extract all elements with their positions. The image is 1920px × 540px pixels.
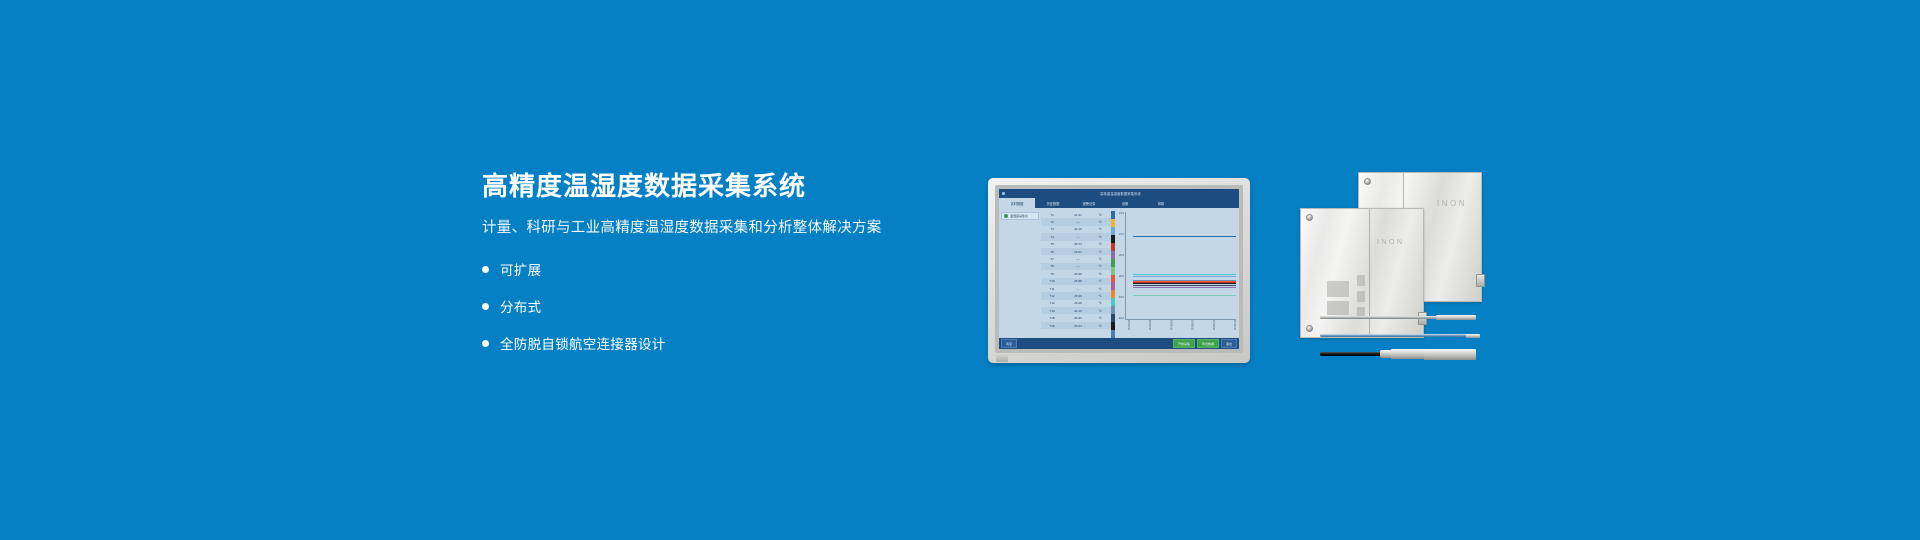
value-cell: 26.28 [1063, 301, 1093, 305]
channel-cell: T13 [1041, 301, 1063, 305]
unit-cell: ℃ [1093, 264, 1107, 268]
value-cell: 26.94 [1063, 324, 1093, 328]
table-row[interactable]: T8---℃ [1041, 263, 1111, 270]
device-tree-label: 温湿度采集仪 [1010, 214, 1028, 218]
unit-cell: ℃ [1093, 242, 1107, 246]
chart-series-line [1133, 281, 1236, 282]
channel-cell: T16 [1041, 324, 1063, 328]
value-cell: 26.19 [1063, 227, 1093, 231]
screw-icon [1364, 178, 1371, 185]
list-item: 可扩展 [482, 259, 952, 279]
y-tick-label: 21.0 [1119, 233, 1124, 236]
channel-cell: T14 [1041, 309, 1063, 313]
screw-icon [1306, 325, 1313, 332]
unit-cell: ℃ [1093, 301, 1107, 305]
probe-shaft [1320, 316, 1440, 319]
table-row[interactable]: T626.61℃ [1041, 248, 1111, 255]
tab-strip: 实时数据 历史数据 报警记录 设置 帮助 [999, 198, 1239, 208]
table-row[interactable]: T926.98℃ [1041, 270, 1111, 277]
table-row[interactable]: T7---℃ [1041, 255, 1111, 262]
chart-x-axis: 10:02:1010:04:1010:06:1010:08:1010:10:10… [1127, 320, 1236, 335]
app-bottom-toolbar: 清空 开始采集 导出数据 退出 [999, 338, 1239, 349]
value-cell: 26.15 [1063, 309, 1093, 313]
value-cell: 26.73 [1063, 242, 1093, 246]
feature-label: 可扩展 [500, 259, 541, 279]
chart-plot-area [1125, 212, 1236, 320]
tab-history[interactable]: 历史数据 [1035, 198, 1071, 208]
feature-label: 分布式 [500, 296, 541, 316]
y-tick-label: 21.5 [1119, 212, 1124, 215]
exit-button[interactable]: 退出 [1221, 339, 1237, 348]
unit-cell: ℃ [1093, 316, 1107, 320]
value-cell: 26.61 [1063, 250, 1093, 254]
table-row[interactable]: T1226.90℃ [1041, 292, 1111, 299]
table-row[interactable]: T1426.15℃ [1041, 307, 1111, 314]
channel-cell: T4 [1041, 235, 1063, 239]
value-cell: --- [1063, 264, 1093, 268]
channel-cell: T10 [1041, 279, 1063, 283]
chart-series-line [1133, 274, 1236, 275]
unit-cell: ℃ [1093, 250, 1107, 254]
unit-cell: ℃ [1093, 272, 1107, 276]
table-row[interactable]: T1626.94℃ [1041, 322, 1111, 329]
x-tick-label: 10:02:10 [1127, 320, 1130, 335]
chart-series-line [1133, 295, 1236, 296]
chart-y-axis: 21.521.020.520.019.519.0 [1115, 212, 1125, 320]
x-tick-label: 10:06:10 [1169, 320, 1172, 335]
table-row[interactable]: T11---℃ [1041, 285, 1111, 292]
channel-cell: T7 [1041, 257, 1063, 261]
feature-list: 可扩展 分布式 全防脱自锁航空连接器设计 [482, 259, 952, 353]
x-tick-label: 10:04:10 [1148, 320, 1151, 335]
connector-shell [1424, 349, 1476, 360]
sensor-probes [1320, 312, 1480, 368]
device-tree-root[interactable]: 温湿度采集仪 [1001, 212, 1039, 220]
value-cell: --- [1063, 287, 1093, 291]
module-brand-label: INON [1437, 199, 1467, 208]
device-online-icon [1004, 214, 1008, 218]
y-tick-label: 19.0 [1119, 317, 1124, 320]
table-row[interactable]: T1326.28℃ [1041, 300, 1111, 307]
chart-series-line [1133, 287, 1236, 288]
value-cell: --- [1063, 235, 1093, 239]
y-tick-label: 20.5 [1119, 254, 1124, 257]
channel-cell: T2 [1041, 220, 1063, 224]
channel-cell: T8 [1041, 264, 1063, 268]
value-cell: 21.31 [1063, 213, 1093, 217]
value-cell: --- [1063, 257, 1093, 261]
tab-realtime[interactable]: 实时数据 [999, 198, 1035, 208]
probe-shaft [1320, 334, 1468, 337]
monitor-screen: 高精度温湿度数据采集系统 实时数据 历史数据 报警记录 设置 帮助 温湿度采集仪 [999, 189, 1239, 349]
list-item: 全防脱自锁航空连接器设计 [482, 333, 952, 353]
monitor-inner-bezel: 高精度温湿度数据采集系统 实时数据 历史数据 报警记录 设置 帮助 温湿度采集仪 [995, 185, 1243, 353]
device-tree-pane: 温湿度采集仪 [999, 208, 1041, 338]
page-title: 高精度温湿度数据采集系统 [482, 172, 952, 201]
monitor-stand-foot [996, 355, 1008, 362]
unit-cell: ℃ [1093, 294, 1107, 298]
unit-cell: ℃ [1093, 287, 1107, 291]
chart-series-line [1133, 236, 1236, 237]
list-item: 分布式 [482, 296, 952, 316]
table-row[interactable]: T2---℃ [1041, 218, 1111, 225]
bullet-dot-icon [482, 340, 489, 347]
bullet-dot-icon [482, 266, 489, 273]
chart-series-line [1133, 276, 1236, 277]
clear-button[interactable]: 清空 [1001, 339, 1017, 348]
chart-series-line [1133, 283, 1236, 284]
table-row[interactable]: T121.31℃ [1041, 211, 1111, 218]
channel-cell: T11 [1041, 287, 1063, 291]
bullet-dot-icon [482, 303, 489, 310]
banner-copy: 高精度温湿度数据采集系统 计量、科研与工业高精度温湿度数据采集和分析整体解决方案… [482, 172, 952, 370]
tab-settings[interactable]: 设置 [1107, 198, 1143, 208]
panel-monitor: 高精度温湿度数据采集系统 实时数据 历史数据 报警记录 设置 帮助 温湿度采集仪 [988, 178, 1250, 363]
channel-cell: T6 [1041, 250, 1063, 254]
unit-cell: ℃ [1093, 235, 1107, 239]
product-banner: 高精度温湿度数据采集系统 计量、科研与工业高精度温湿度数据采集和分析整体解决方案… [0, 0, 1920, 540]
module-brand-label: INON [1377, 239, 1405, 246]
x-tick-label: 10:10:10 [1212, 320, 1215, 335]
channel-cell: T1 [1041, 213, 1063, 217]
x-tick-label: 10:08:10 [1191, 320, 1194, 335]
x-tick-label: 10:12:10 [1233, 320, 1236, 335]
chart-series-line [1133, 280, 1236, 281]
probe-cable [1320, 352, 1382, 356]
trend-chart[interactable]: 21.521.020.520.019.519.0 10:02:1010:04:1… [1115, 208, 1239, 338]
probe-tip [1466, 334, 1480, 338]
app-workarea: 温湿度采集仪 T121.31℃T2---℃T326.19℃T4---℃T526.… [999, 208, 1239, 338]
label-plate [1357, 275, 1365, 286]
channel-cell: T5 [1041, 242, 1063, 246]
channel-table[interactable]: T121.31℃T2---℃T326.19℃T4---℃T526.73℃T626… [1041, 208, 1111, 338]
channel-cell: T12 [1041, 294, 1063, 298]
unit-cell: ℃ [1093, 227, 1107, 231]
unit-cell: ℃ [1093, 220, 1107, 224]
tab-alarms[interactable]: 报警记录 [1071, 198, 1107, 208]
app-titlebar: 高精度温湿度数据采集系统 [999, 189, 1239, 198]
value-cell: 26.90 [1063, 294, 1093, 298]
table-row[interactable]: T1026.88℃ [1041, 278, 1111, 285]
value-cell: 26.90 [1063, 316, 1093, 320]
start-capture-button[interactable]: 开始采集 [1173, 339, 1195, 348]
page-subtitle: 计量、科研与工业高精度温湿度数据采集和分析整体解决方案 [482, 219, 952, 238]
chart-series-line [1133, 285, 1236, 286]
table-row[interactable]: T326.19℃ [1041, 226, 1111, 233]
label-plate [1357, 291, 1365, 302]
tab-help[interactable]: 帮助 [1143, 198, 1179, 208]
unit-cell: ℃ [1093, 309, 1107, 313]
app-title: 高精度温湿度数据采集系统 [1005, 191, 1236, 196]
table-row[interactable]: T4---℃ [1041, 233, 1111, 240]
vent-grille [1327, 281, 1349, 297]
value-cell: 26.98 [1063, 272, 1093, 276]
channel-cell: T3 [1041, 227, 1063, 231]
unit-cell: ℃ [1093, 213, 1107, 217]
channel-cell: T9 [1041, 272, 1063, 276]
value-cell: --- [1063, 220, 1093, 224]
feature-label: 全防脱自锁航空连接器设计 [500, 333, 666, 353]
y-tick-label: 19.5 [1119, 296, 1124, 299]
y-tick-label: 20.0 [1119, 275, 1124, 278]
connector-port [1476, 274, 1485, 287]
screw-icon [1306, 214, 1313, 221]
value-cell: 26.88 [1063, 279, 1093, 283]
aviation-connector [1391, 349, 1425, 359]
channel-cell: T15 [1041, 316, 1063, 320]
unit-cell: ℃ [1093, 257, 1107, 261]
probe-tip [1436, 315, 1476, 320]
unit-cell: ℃ [1093, 279, 1107, 283]
export-data-button[interactable]: 导出数据 [1197, 339, 1219, 348]
table-row[interactable]: T1526.90℃ [1041, 314, 1111, 321]
unit-cell: ℃ [1093, 324, 1107, 328]
table-row[interactable]: T526.73℃ [1041, 241, 1111, 248]
